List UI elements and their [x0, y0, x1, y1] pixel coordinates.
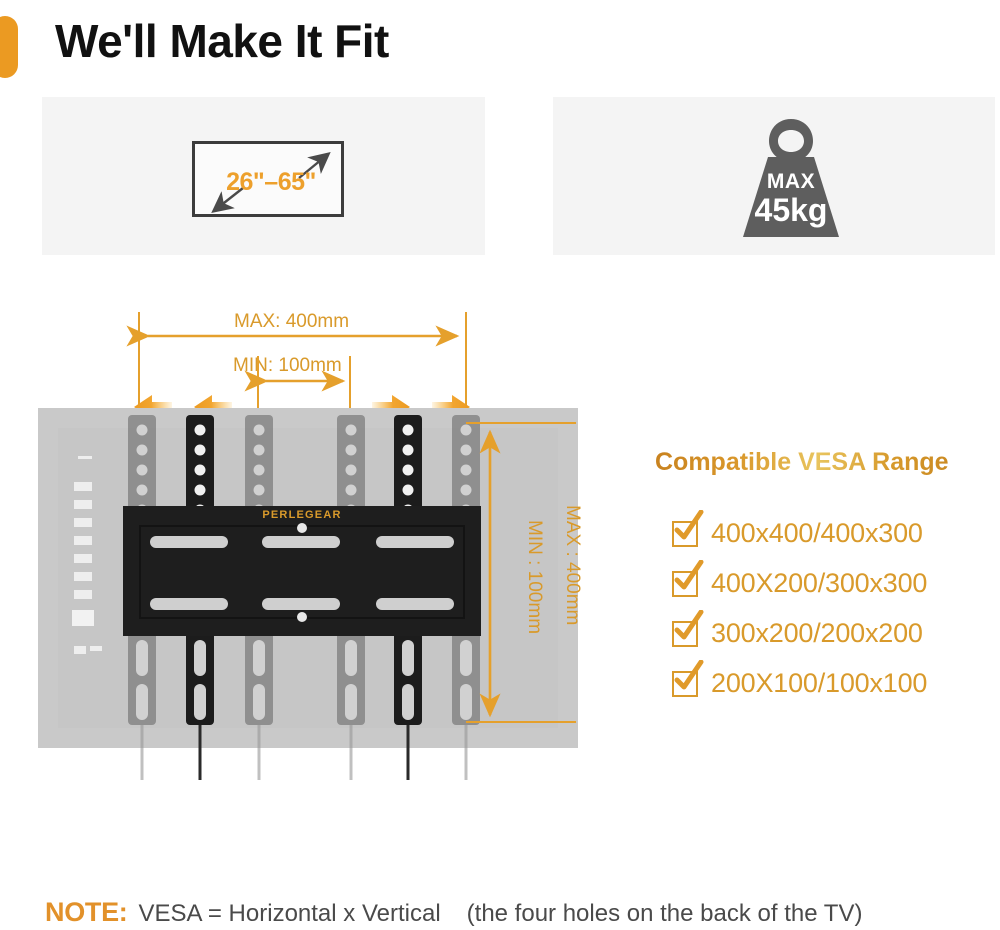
vertical-max-label: MAX : 400mm — [561, 505, 583, 625]
note-row: NOTE: VESA = Horizontal x Vertical (the … — [45, 897, 862, 928]
note-parenthetical: (the four holes on the back of the TV) — [467, 900, 863, 928]
checkmark-icon — [672, 510, 704, 544]
title-accent-bar — [0, 16, 18, 78]
note-keyword: NOTE: — [45, 897, 128, 928]
note-definition: VESA = Horizontal x Vertical — [139, 900, 441, 928]
weight-capacity-panel: MAX 45kg — [553, 97, 995, 255]
wall-plate: PERLEGEAR — [123, 506, 481, 636]
weight-value-label: 45kg — [731, 194, 851, 226]
tv-screen-diagonal-icon: 26"–65" — [192, 141, 344, 217]
checkbox-icon[interactable] — [672, 571, 698, 597]
weight-max-label: MAX — [731, 171, 851, 192]
checkmark-icon — [672, 660, 704, 694]
vesa-option-label: 400X200/300x300 — [711, 568, 927, 599]
vesa-option-row[interactable]: 300x200/200x200 — [672, 618, 923, 649]
vesa-option-label: 300x200/200x200 — [711, 618, 923, 649]
checkmark-icon — [672, 610, 704, 644]
vesa-heading: Compatible VESA Range — [655, 448, 949, 477]
checkbox-icon[interactable] — [672, 671, 698, 697]
checkmark-icon — [672, 560, 704, 594]
vesa-option-row[interactable]: 400x400/400x300 — [672, 518, 923, 549]
vesa-option-row[interactable]: 200X100/100x100 — [672, 668, 927, 699]
page-title: We'll Make It Fit — [55, 14, 389, 68]
checkbox-icon[interactable] — [672, 621, 698, 647]
vertical-min-label: MIN : 100mm — [523, 520, 545, 634]
screen-size-label: 26"–65" — [195, 144, 347, 220]
weight-block-icon: MAX 45kg — [731, 115, 851, 239]
screen-size-panel: 26"–65" — [42, 97, 485, 255]
checkbox-icon[interactable] — [672, 521, 698, 547]
vesa-option-label: 200X100/100x100 — [711, 668, 927, 699]
vesa-option-row[interactable]: 400X200/300x300 — [672, 568, 927, 599]
infographic-page: We'll Make It Fit 26"–65" — [0, 0, 1000, 930]
brand-label: PERLEGEAR — [262, 509, 341, 521]
vesa-option-label: 400x400/400x300 — [711, 518, 923, 549]
